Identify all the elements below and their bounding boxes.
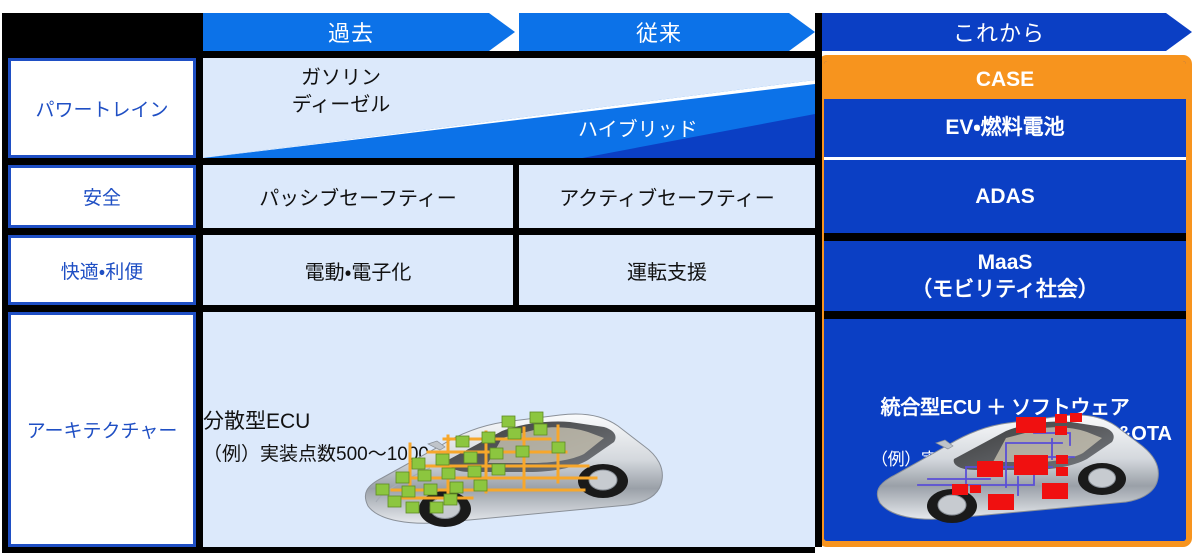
grid-line-h-2 [8, 228, 815, 235]
cell-comfort-future: MaaS （モビリティ社会） [824, 241, 1186, 311]
row-label-powertrain: パワートレイン [8, 58, 196, 158]
grid-line-vertical-left [196, 13, 203, 547]
integrated-ecu-car-illustration [866, 399, 1166, 539]
case-banner: CASE [824, 61, 1186, 99]
row-label-text: アーキテクチャー [27, 416, 178, 443]
header-label-past: 過去 [328, 16, 374, 48]
grid-line-h-top [8, 51, 815, 58]
row-label-comfort: 快適・利便 [8, 235, 196, 305]
distributed-ecu-car-illustration [352, 398, 682, 543]
header-arrow-now: 従来 [519, 13, 815, 51]
grid-line-left-edge [2, 13, 8, 553]
cell-powertrain-future: EV・燃料電池 [824, 99, 1186, 157]
grid-line-h-bottom [8, 547, 815, 553]
header-label-future: これから [953, 16, 1045, 48]
header-label-now: 従来 [636, 16, 682, 48]
separator-adas-maas [824, 233, 1186, 241]
case-panel: CASE EV・燃料電池 ADAS MaaS （モビリティ社会） 統合型ECU … [818, 55, 1192, 547]
row-label-text: 安全 [83, 183, 121, 210]
cell-safety-now: アクティブセーフティー [519, 165, 815, 228]
row-label-safety: 安全 [8, 165, 196, 228]
header-arrow-past: 過去 [203, 13, 515, 51]
cell-safety-future: ADAS [824, 160, 1186, 233]
header-arrow-future: これから [822, 13, 1192, 51]
cell-comfort-now: 運転支援 [519, 235, 815, 305]
architecture-left-title: 分散型ECU [203, 405, 310, 435]
grid-line-vertical-mid [513, 165, 519, 305]
car-svg-left [352, 398, 682, 543]
diagram-canvas: 過去 従来 これから パワートレイン 安全 快適・利便 アーキテクチャー ガソリ… [0, 0, 1200, 555]
grid-line-h-3 [8, 305, 815, 312]
grid-line-vertical-right [815, 13, 822, 547]
car-svg-right [866, 399, 1166, 539]
label-gasoline-diesel: ガソリン ディーゼル [246, 65, 436, 119]
row-label-text: パワートレイン [35, 95, 168, 122]
cell-safety-past: パッシブセーフティー [203, 165, 513, 228]
cell-comfort-past: 電動・電子化 [203, 235, 513, 305]
grid-line-h-1 [8, 158, 815, 165]
separator-maas-arch [824, 311, 1186, 319]
row-label-architecture: アーキテクチャー [8, 312, 196, 547]
label-hybrid: ハイブリッド [578, 113, 698, 142]
header-corner-block [8, 13, 196, 51]
row-label-text: 快適・利便 [61, 257, 143, 284]
